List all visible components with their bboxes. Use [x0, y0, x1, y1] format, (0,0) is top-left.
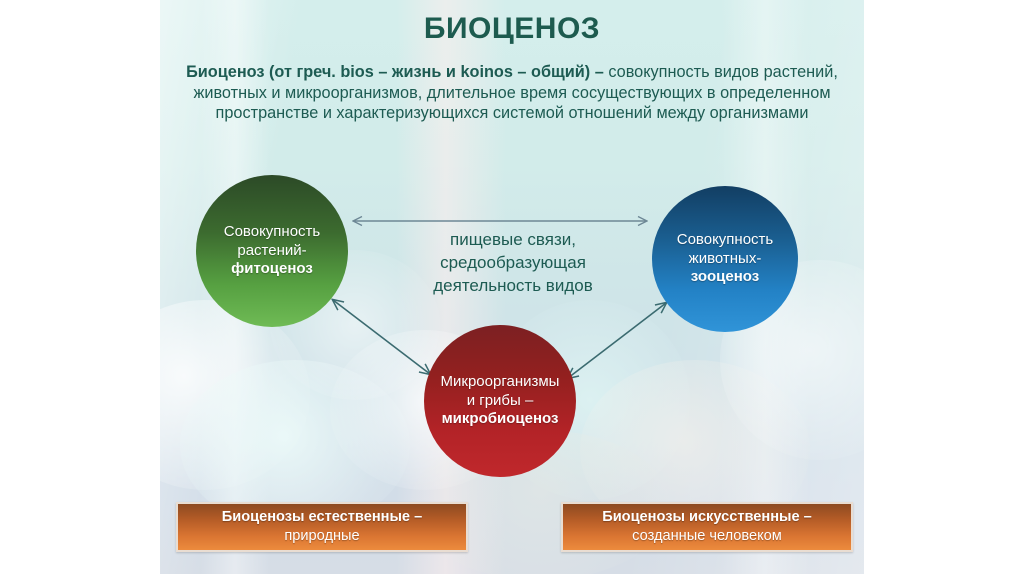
page-title: БИОЦЕНОЗ — [160, 12, 864, 46]
definition-lead: Биоценоз (от греч. bios – жизнь и koinos… — [186, 63, 604, 81]
slide-canvas: БИОЦЕНОЗ Биоценоз (от греч. bios – жизнь… — [160, 0, 864, 574]
box-natural-line1: Биоценозы естественные – — [222, 508, 422, 527]
box-artificial-line1: Биоценозы искусственные – — [602, 508, 812, 527]
circle-zoocenosis-line2: животных- — [689, 250, 762, 269]
circle-zoocenosis-line1: Совокупность — [677, 231, 773, 250]
arrow-phytocenosis-microbiocenosis — [333, 300, 430, 374]
circle-phytocenosis-line2: растений- — [237, 242, 306, 261]
circle-phytocenosis-line3: фитоценоз — [231, 260, 313, 279]
circle-zoocenosis-line3: зооценоз — [691, 268, 759, 287]
circle-microbiocenosis[interactable]: Микроорганизмы и грибы – микробиоценоз — [424, 325, 576, 477]
box-natural-line2: природные — [284, 527, 359, 546]
center-relations-label: пищевые связи, средообразующая деятельно… — [360, 228, 666, 297]
definition-paragraph: Биоценоз (от греч. bios – жизнь и koinos… — [178, 62, 846, 124]
circle-phytocenosis-line1: Совокупность — [224, 223, 320, 242]
box-natural-biocenoses[interactable]: Биоценозы естественные – природные — [176, 502, 468, 552]
slide-stage: БИОЦЕНОЗ Биоценоз (от греч. bios – жизнь… — [0, 0, 1024, 574]
center-relations-line3: деятельность видов — [360, 274, 666, 297]
center-relations-line2: средообразующая — [360, 251, 666, 274]
circle-microbiocenosis-line2: и грибы – — [467, 392, 534, 411]
circle-phytocenosis[interactable]: Совокупность растений- фитоценоз — [196, 175, 348, 327]
box-artificial-line2: созданные человеком — [632, 527, 782, 546]
arrow-zoocenosis-microbiocenosis — [568, 303, 666, 378]
circle-microbiocenosis-line1: Микроорганизмы — [441, 373, 560, 392]
circle-zoocenosis[interactable]: Совокупность животных- зооценоз — [652, 186, 798, 332]
box-artificial-biocenoses[interactable]: Биоценозы искусственные – созданные чело… — [561, 502, 853, 552]
center-relations-line1: пищевые связи, — [360, 228, 666, 251]
background-blob-1 — [160, 300, 310, 490]
circle-microbiocenosis-line3: микробиоценоз — [442, 410, 559, 429]
